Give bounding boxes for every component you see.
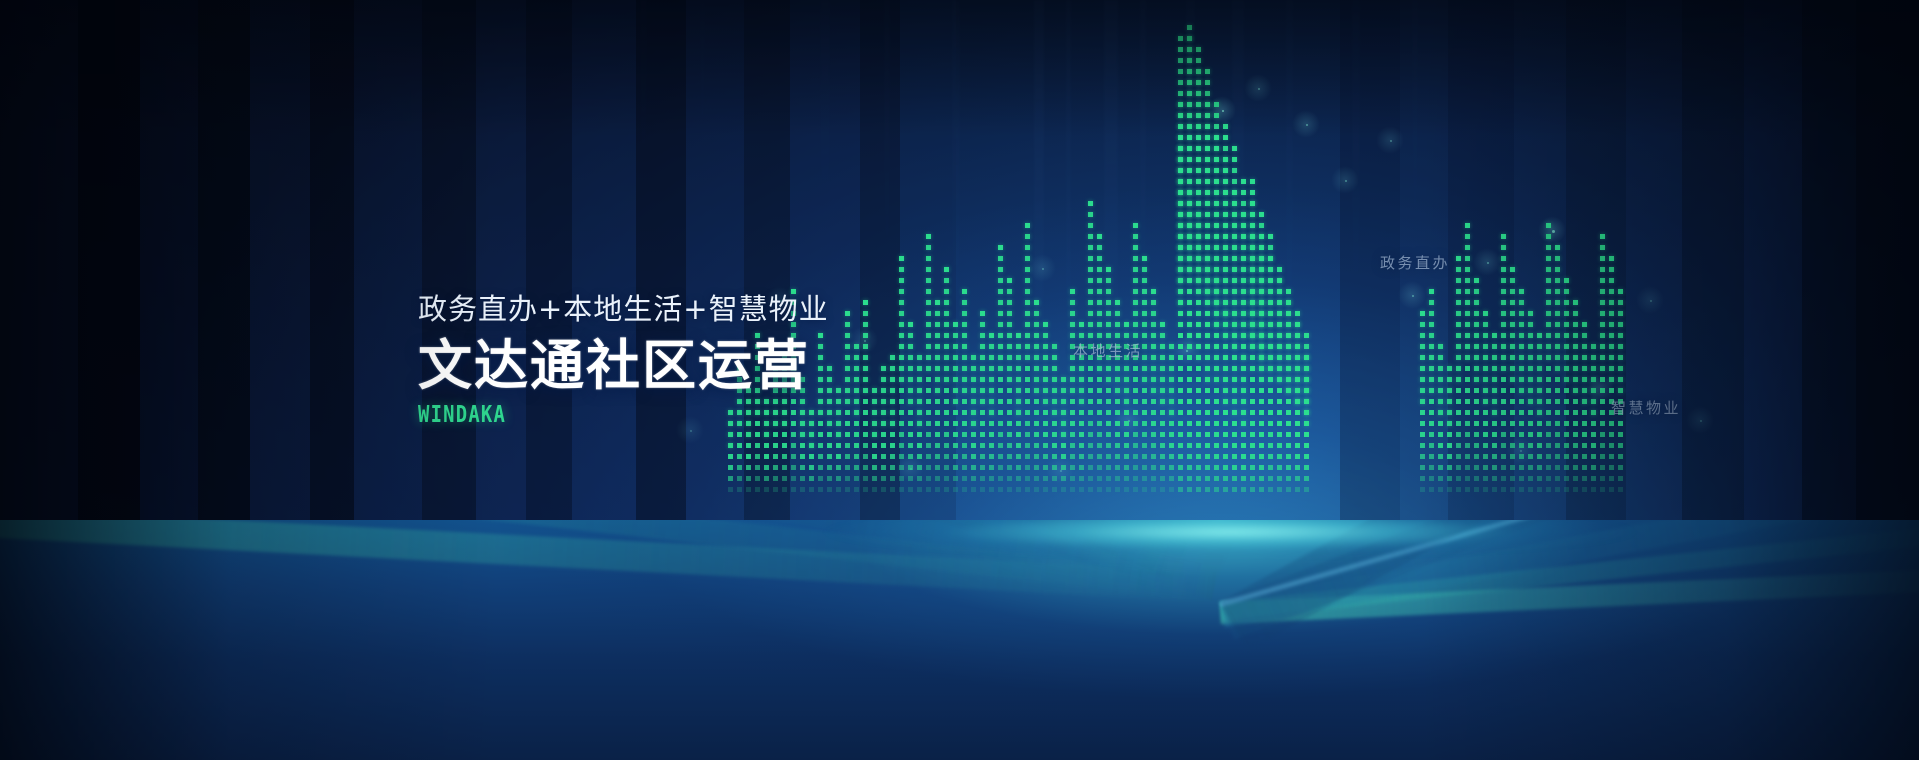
chart-dot [1187, 223, 1192, 228]
chart-dot [1151, 344, 1156, 349]
chart-dot [1528, 443, 1533, 448]
chart-dot [1025, 267, 1030, 272]
chart-bar-column [1501, 228, 1506, 492]
chart-dot [800, 487, 805, 492]
chart-dot [1007, 476, 1012, 481]
chart-dot [1160, 487, 1165, 492]
chart-dot [1492, 355, 1497, 360]
chart-dot [1510, 267, 1515, 272]
chart-dot [1492, 344, 1497, 349]
chart-bar-column [953, 316, 958, 492]
chart-dot [1618, 454, 1623, 459]
chart-dot [1546, 366, 1551, 371]
chart-bar-column [1016, 324, 1021, 492]
chart-dot [1429, 454, 1434, 459]
chart-dot [1465, 487, 1470, 492]
chart-dot [890, 410, 895, 415]
chart-dot [1546, 443, 1551, 448]
chart-dot [1178, 421, 1183, 426]
chart-dot [1169, 421, 1174, 426]
chart-dot [908, 377, 913, 382]
chart-dot [1205, 322, 1210, 327]
chart-dot [1079, 465, 1084, 470]
chart-dot [1268, 388, 1273, 393]
chart-bar-column [1483, 296, 1488, 492]
chart-dot [1232, 377, 1237, 382]
chart-dot [1205, 410, 1210, 415]
chart-dot [1474, 476, 1479, 481]
chart-dot [854, 410, 859, 415]
chart-dot [1232, 256, 1237, 261]
chart-dot [1052, 432, 1057, 437]
chart-dot [1133, 322, 1138, 327]
chart-dot [1600, 234, 1605, 239]
chart-dot [1600, 333, 1605, 338]
chart-dot [1474, 322, 1479, 327]
chart-bar-column [1007, 266, 1012, 492]
chart-dot [1546, 267, 1551, 272]
chart-dot [1259, 487, 1264, 492]
chart-dot [1007, 399, 1012, 404]
chart-dot [863, 333, 868, 338]
chart-bar-column [863, 287, 868, 492]
chart-dot [854, 454, 859, 459]
chart-dot [1582, 377, 1587, 382]
chart-dot [782, 487, 787, 492]
chart-dot [1483, 476, 1488, 481]
chart-dot [872, 399, 877, 404]
chart-dot [1007, 278, 1012, 283]
chart-dot [1016, 465, 1021, 470]
chart-dot [1133, 289, 1138, 294]
chart-dot [863, 410, 868, 415]
chart-dot [962, 333, 967, 338]
chart-dot [1259, 410, 1264, 415]
chart-dot [998, 421, 1003, 426]
chart-dot [971, 399, 976, 404]
chart-dot [1133, 487, 1138, 492]
chart-dot [1187, 267, 1192, 272]
chart-dot [1420, 366, 1425, 371]
chart-dot [1187, 80, 1192, 85]
chart-dot [845, 465, 850, 470]
chart-dot [1043, 421, 1048, 426]
chart-dot [1007, 322, 1012, 327]
chart-dot [881, 432, 886, 437]
chart-dot [845, 476, 850, 481]
chart-dot [953, 454, 958, 459]
chart-dot [1088, 388, 1093, 393]
chart-dot [1205, 223, 1210, 228]
chart-dot [890, 399, 895, 404]
chart-dot [1205, 487, 1210, 492]
chart-dot [1259, 465, 1264, 470]
chart-dot [1295, 421, 1300, 426]
chart-dot [1564, 432, 1569, 437]
chart-dot [1241, 355, 1246, 360]
chart-dot [1178, 124, 1183, 129]
chart-dot [1277, 432, 1282, 437]
chart-dot [1169, 410, 1174, 415]
chart-dot [809, 487, 814, 492]
chart-dot [1214, 289, 1219, 294]
chart-dot [1591, 454, 1596, 459]
chart-dot [1438, 344, 1443, 349]
chart-dot [1151, 311, 1156, 316]
chart-dot [1465, 443, 1470, 448]
chart-dot [782, 476, 787, 481]
chart-dot [1501, 421, 1506, 426]
chart-dot [908, 454, 913, 459]
chart-dot [944, 454, 949, 459]
chart-dot [980, 377, 985, 382]
chart-dot [755, 454, 760, 459]
chart-dot [1295, 487, 1300, 492]
chart-dot [1582, 410, 1587, 415]
chart-bar-column [1079, 310, 1084, 492]
chart-dot [1196, 476, 1201, 481]
chart-dot [1555, 377, 1560, 382]
chart-dot [1205, 344, 1210, 349]
chart-dot [1214, 454, 1219, 459]
chart-dot [1564, 388, 1569, 393]
chart-dot [809, 443, 814, 448]
chart-dot [1618, 311, 1623, 316]
chart-dot [1510, 377, 1515, 382]
chart-dot [1618, 487, 1623, 492]
chart-dot [1250, 487, 1255, 492]
chart-dot [1555, 399, 1560, 404]
chart-dot [1564, 410, 1569, 415]
chart-dot [1447, 421, 1452, 426]
chart-dot [845, 432, 850, 437]
chart-dot [935, 421, 940, 426]
chart-dot [1025, 454, 1030, 459]
chart-dot [1600, 487, 1605, 492]
chart-dot [1546, 465, 1551, 470]
chart-dot [1250, 355, 1255, 360]
chart-dot [1151, 476, 1156, 481]
chart-dot [1600, 421, 1605, 426]
chart-dot [1142, 487, 1147, 492]
chart-dot [1259, 366, 1264, 371]
chart-bar-column [1250, 192, 1255, 492]
chart-dot [1286, 487, 1291, 492]
chart-dot [1205, 91, 1210, 96]
chart-dot [791, 487, 796, 492]
chart-dot [1456, 377, 1461, 382]
chart-dot [998, 465, 1003, 470]
chart-dot [908, 366, 913, 371]
chart-dot [1016, 410, 1021, 415]
chart-dot [1025, 487, 1030, 492]
chart-dot [1501, 355, 1506, 360]
chart-dot [1483, 322, 1488, 327]
chart-dot [926, 256, 931, 261]
chart-dot [1420, 487, 1425, 492]
chart-dot [926, 245, 931, 250]
chart-dot [944, 355, 949, 360]
chart-dot [980, 487, 985, 492]
chart-dot [1259, 355, 1264, 360]
chart-dot [1609, 443, 1614, 448]
chart-dot [1061, 432, 1066, 437]
chart-dot [1025, 388, 1030, 393]
chart-dot [1178, 113, 1183, 118]
chart-dot [1609, 476, 1614, 481]
chart-dot [1492, 410, 1497, 415]
chart-dot [1555, 454, 1560, 459]
chart-dot [1196, 344, 1201, 349]
chart-dot [1088, 465, 1093, 470]
chart-dot [1609, 322, 1614, 327]
chart-dot [1600, 300, 1605, 305]
chart-dot [1510, 322, 1515, 327]
chart-dot [1169, 377, 1174, 382]
chart-dot [899, 300, 904, 305]
chart-dot [1034, 443, 1039, 448]
chart-dot [998, 410, 1003, 415]
chart-dot [1151, 366, 1156, 371]
chart-dot [1268, 399, 1273, 404]
chart-dot [1241, 333, 1246, 338]
chart-dot [1187, 201, 1192, 206]
chart-dot [1079, 366, 1084, 371]
chart-dot [1241, 278, 1246, 283]
chart-dot [728, 487, 733, 492]
chart-dot [1097, 432, 1102, 437]
chart-dot [926, 355, 931, 360]
chart-dot [1519, 322, 1524, 327]
chart-dot [1546, 234, 1551, 239]
chart-dot [1133, 256, 1138, 261]
chart-dot [1178, 476, 1183, 481]
chart-dot [1492, 366, 1497, 371]
chart-dot [1241, 399, 1246, 404]
chart-dot [1214, 355, 1219, 360]
chart-dot [863, 366, 868, 371]
chart-dot [1025, 476, 1030, 481]
chart-dot [845, 344, 850, 349]
chart-dot [1420, 322, 1425, 327]
chart-dot [1600, 443, 1605, 448]
chart-dot [1618, 333, 1623, 338]
floating-label-3: 智慧物业 [1611, 397, 1681, 418]
chart-dot [1474, 443, 1479, 448]
chart-dot [1016, 443, 1021, 448]
chart-dot [1178, 311, 1183, 316]
chart-dot [1609, 421, 1614, 426]
chart-dot [1205, 113, 1210, 118]
chart-dot [1178, 58, 1183, 63]
chart-dot [1492, 333, 1497, 338]
chart-dot [1492, 421, 1497, 426]
chart-dot [1025, 333, 1030, 338]
chart-bar-column [1537, 326, 1542, 492]
chart-dot [998, 333, 1003, 338]
chart-dot [872, 476, 877, 481]
chart-dot [1465, 278, 1470, 283]
chart-dot [935, 366, 940, 371]
chart-dot [1214, 245, 1219, 250]
chart-dot [1214, 300, 1219, 305]
chart-dot [881, 377, 886, 382]
chart-dot [1178, 333, 1183, 338]
chart-dot [1465, 223, 1470, 228]
chart-dot [1223, 432, 1228, 437]
chart-dot [1097, 256, 1102, 261]
chart-dot [1591, 355, 1596, 360]
chart-dot [827, 443, 832, 448]
chart-dot [1232, 388, 1237, 393]
chart-dot [1232, 168, 1237, 173]
chart-dot [989, 476, 994, 481]
chart-dot [1196, 168, 1201, 173]
chart-dot [800, 432, 805, 437]
chart-dot [1600, 366, 1605, 371]
chart-dot [1438, 487, 1443, 492]
chart-dot [1259, 311, 1264, 316]
chart-dot [1223, 377, 1228, 382]
chart-dot [998, 245, 1003, 250]
chart-dot [1304, 355, 1309, 360]
chart-dot [1187, 25, 1192, 30]
chart-dot [998, 476, 1003, 481]
chart-dot [1205, 146, 1210, 151]
chart-dot [1465, 388, 1470, 393]
chart-dot [1016, 355, 1021, 360]
chart-dot [1187, 157, 1192, 162]
chart-dot [1223, 410, 1228, 415]
chart-dot [1519, 377, 1524, 382]
chart-dot [1420, 410, 1425, 415]
chart-dot [1474, 366, 1479, 371]
chart-dot [1573, 399, 1578, 404]
chart-dot [1591, 344, 1596, 349]
chart-dot [1232, 421, 1237, 426]
chart-dot [953, 377, 958, 382]
chart-dot [1025, 443, 1030, 448]
chart-dot [917, 355, 922, 360]
chart-dot [1133, 465, 1138, 470]
chart-dot [1025, 278, 1030, 283]
chart-dot [1187, 388, 1192, 393]
chart-dot [1528, 355, 1533, 360]
chart-dot [1241, 421, 1246, 426]
chart-dot [1178, 212, 1183, 217]
chart-dot [1187, 47, 1192, 52]
chart-dot [1465, 234, 1470, 239]
chart-dot [737, 443, 742, 448]
chart-dot [1160, 344, 1165, 349]
chart-dot [1232, 289, 1237, 294]
chart-bar-column [1025, 216, 1030, 492]
chart-dot [1618, 289, 1623, 294]
chart-dot [1510, 399, 1515, 404]
chart-dot [1070, 443, 1075, 448]
chart-dot [1537, 421, 1542, 426]
chart-dot [971, 465, 976, 470]
chart-dot [1286, 388, 1291, 393]
chart-dot [989, 465, 994, 470]
chart-dot [1115, 454, 1120, 459]
chart-dot [1133, 399, 1138, 404]
chart-dot [926, 366, 931, 371]
chart-dot [854, 377, 859, 382]
chart-dot [1007, 355, 1012, 360]
chart-dot [1232, 223, 1237, 228]
chart-dot [1196, 135, 1201, 140]
chart-dot [1564, 333, 1569, 338]
chart-dot [1034, 300, 1039, 305]
chart-dot [1483, 355, 1488, 360]
chart-dot [818, 443, 823, 448]
chart-dot [1232, 465, 1237, 470]
chart-dot [1079, 399, 1084, 404]
chart-dot [1160, 399, 1165, 404]
chart-dot [755, 432, 760, 437]
chart-dot [1591, 410, 1596, 415]
chart-dot [1187, 190, 1192, 195]
chart-dot [1277, 399, 1282, 404]
chart-dot [926, 278, 931, 283]
chart-dot [1295, 388, 1300, 393]
chart-dot [1115, 410, 1120, 415]
chart-dot [1106, 443, 1111, 448]
chart-dot [980, 476, 985, 481]
chart-dot [1474, 388, 1479, 393]
chart-dot [1277, 333, 1282, 338]
chart-dot [998, 355, 1003, 360]
chart-dot [1286, 333, 1291, 338]
chart-dot [1052, 399, 1057, 404]
chart-dot [980, 366, 985, 371]
chart-dot [1582, 388, 1587, 393]
chart-dot [1546, 300, 1551, 305]
chart-dot [1178, 47, 1183, 52]
chart-dot [1115, 443, 1120, 448]
chart-dot [1295, 333, 1300, 338]
chart-dot [1205, 366, 1210, 371]
chart-dot [899, 289, 904, 294]
chart-dot [1115, 333, 1120, 338]
chart-dot [1070, 454, 1075, 459]
chart-dot [1528, 476, 1533, 481]
chart-dot [1223, 135, 1228, 140]
chart-dot [737, 465, 742, 470]
chart-dot [1250, 201, 1255, 206]
chart-dot [998, 388, 1003, 393]
chart-dot [926, 487, 931, 492]
chart-dot [1043, 443, 1048, 448]
chart-dot [1546, 355, 1551, 360]
chart-dot [989, 377, 994, 382]
chart-dot [980, 454, 985, 459]
chart-dot [791, 476, 796, 481]
chart-dot [1277, 278, 1282, 283]
chart-dot [1618, 377, 1623, 382]
chart-dot [1546, 377, 1551, 382]
chart-dot [899, 333, 904, 338]
chart-dot [1241, 410, 1246, 415]
chart-dot [980, 344, 985, 349]
chart-dot [1016, 388, 1021, 393]
chart-dot [1178, 135, 1183, 140]
chart-dot [1034, 487, 1039, 492]
chart-dot [1196, 465, 1201, 470]
chart-dot [1304, 476, 1309, 481]
chart-dot [1537, 443, 1542, 448]
